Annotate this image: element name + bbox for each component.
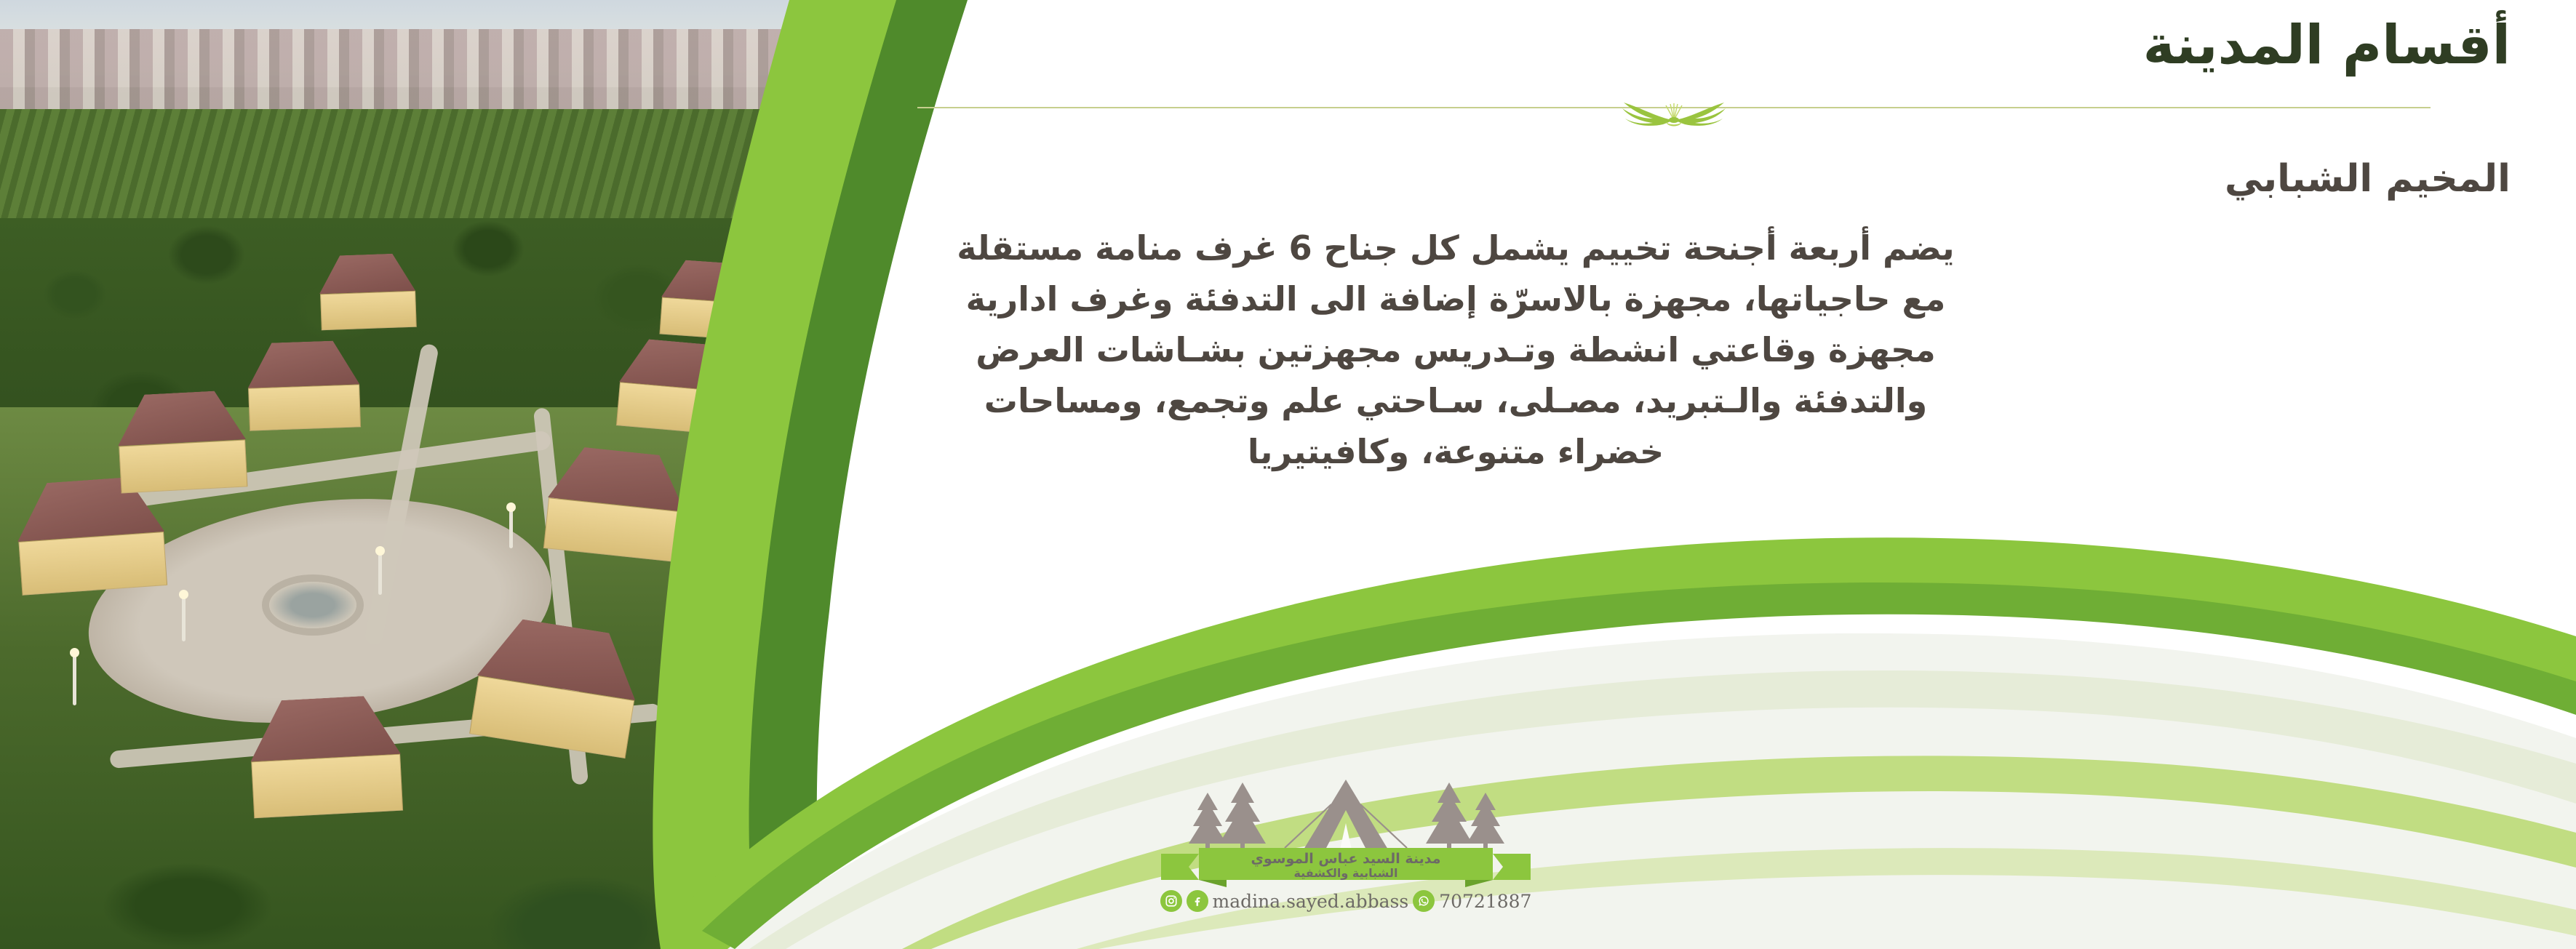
photo-lamp-post bbox=[378, 553, 382, 595]
social-handle: madina.sayed.abbass bbox=[1213, 891, 1409, 912]
facebook-icon[interactable] bbox=[1187, 890, 1208, 912]
description-line: خضراء متنوعة، وكافيتيريا bbox=[837, 427, 2074, 478]
description-line: والتدفئة والـتبريد، مصـلى، سـاحتي علم وت… bbox=[837, 376, 2074, 427]
pine-tree-icon bbox=[1219, 782, 1266, 857]
photo-cabin bbox=[533, 443, 700, 562]
photo-cabin bbox=[237, 694, 414, 817]
pine-tree-icon bbox=[1467, 793, 1504, 855]
divider bbox=[917, 92, 2431, 123]
photo-cabin bbox=[4, 474, 178, 595]
instagram-icon[interactable] bbox=[1160, 890, 1182, 912]
photo-cabin bbox=[653, 258, 767, 340]
photo-lamp-post bbox=[182, 596, 186, 641]
floral-ornament-icon bbox=[1590, 87, 1758, 130]
banner-root: أقسام المدينة المخيم الشبابي يضم أربعة أ… bbox=[0, 0, 2576, 949]
logo-name-line1: مدينة السيد عباس الموسوي bbox=[1251, 851, 1440, 868]
photo-cabin bbox=[607, 336, 746, 434]
photo-cabin bbox=[107, 389, 258, 492]
pine-tree-icon bbox=[1189, 793, 1227, 855]
whatsapp-icon[interactable] bbox=[1413, 890, 1435, 912]
photo-lamp-post bbox=[509, 509, 513, 548]
photo-fountain bbox=[269, 582, 356, 628]
photo-cabin bbox=[239, 340, 369, 430]
description-line: يضم أربعة أجنحة تخييم يشمل كل جناح 6 غرف… bbox=[837, 223, 2074, 274]
phone-number: 70721887 bbox=[1439, 891, 1531, 912]
content-column: أقسام المدينة المخيم الشبابي يضم أربعة أ… bbox=[837, 0, 2511, 949]
description-line: مع حاجياتها، مجهزة بالاسرّة إضافة الى ال… bbox=[837, 274, 2074, 325]
photo-lamp-post bbox=[73, 654, 76, 705]
page-title: أقسام المدينة bbox=[837, 0, 2511, 76]
section-title: المخيم الشبابي bbox=[837, 156, 2511, 201]
section-description: يضم أربعة أجنحة تخييم يشمل كل جناح 6 غرف… bbox=[837, 223, 2074, 478]
aerial-camp-photo bbox=[0, 0, 938, 949]
logo-name-line2: الشبابية والكشفية bbox=[1294, 866, 1398, 880]
logo-art: مدينة السيد عباس الموسوي الشبابية والكشف… bbox=[1157, 778, 1535, 887]
brand-logo: مدينة السيد عباس الموسوي الشبابية والكشف… bbox=[1157, 778, 1535, 945]
description-line: مجهزة وقاعتي انشطة وتـدريس مجهزتين بشـاش… bbox=[837, 325, 2074, 376]
tent-icon bbox=[1285, 780, 1407, 849]
pine-tree-icon bbox=[1426, 782, 1472, 857]
logo-contact-row: madina.sayed.abbass 70721887 bbox=[1157, 890, 1535, 912]
photo-cabin bbox=[311, 252, 423, 329]
